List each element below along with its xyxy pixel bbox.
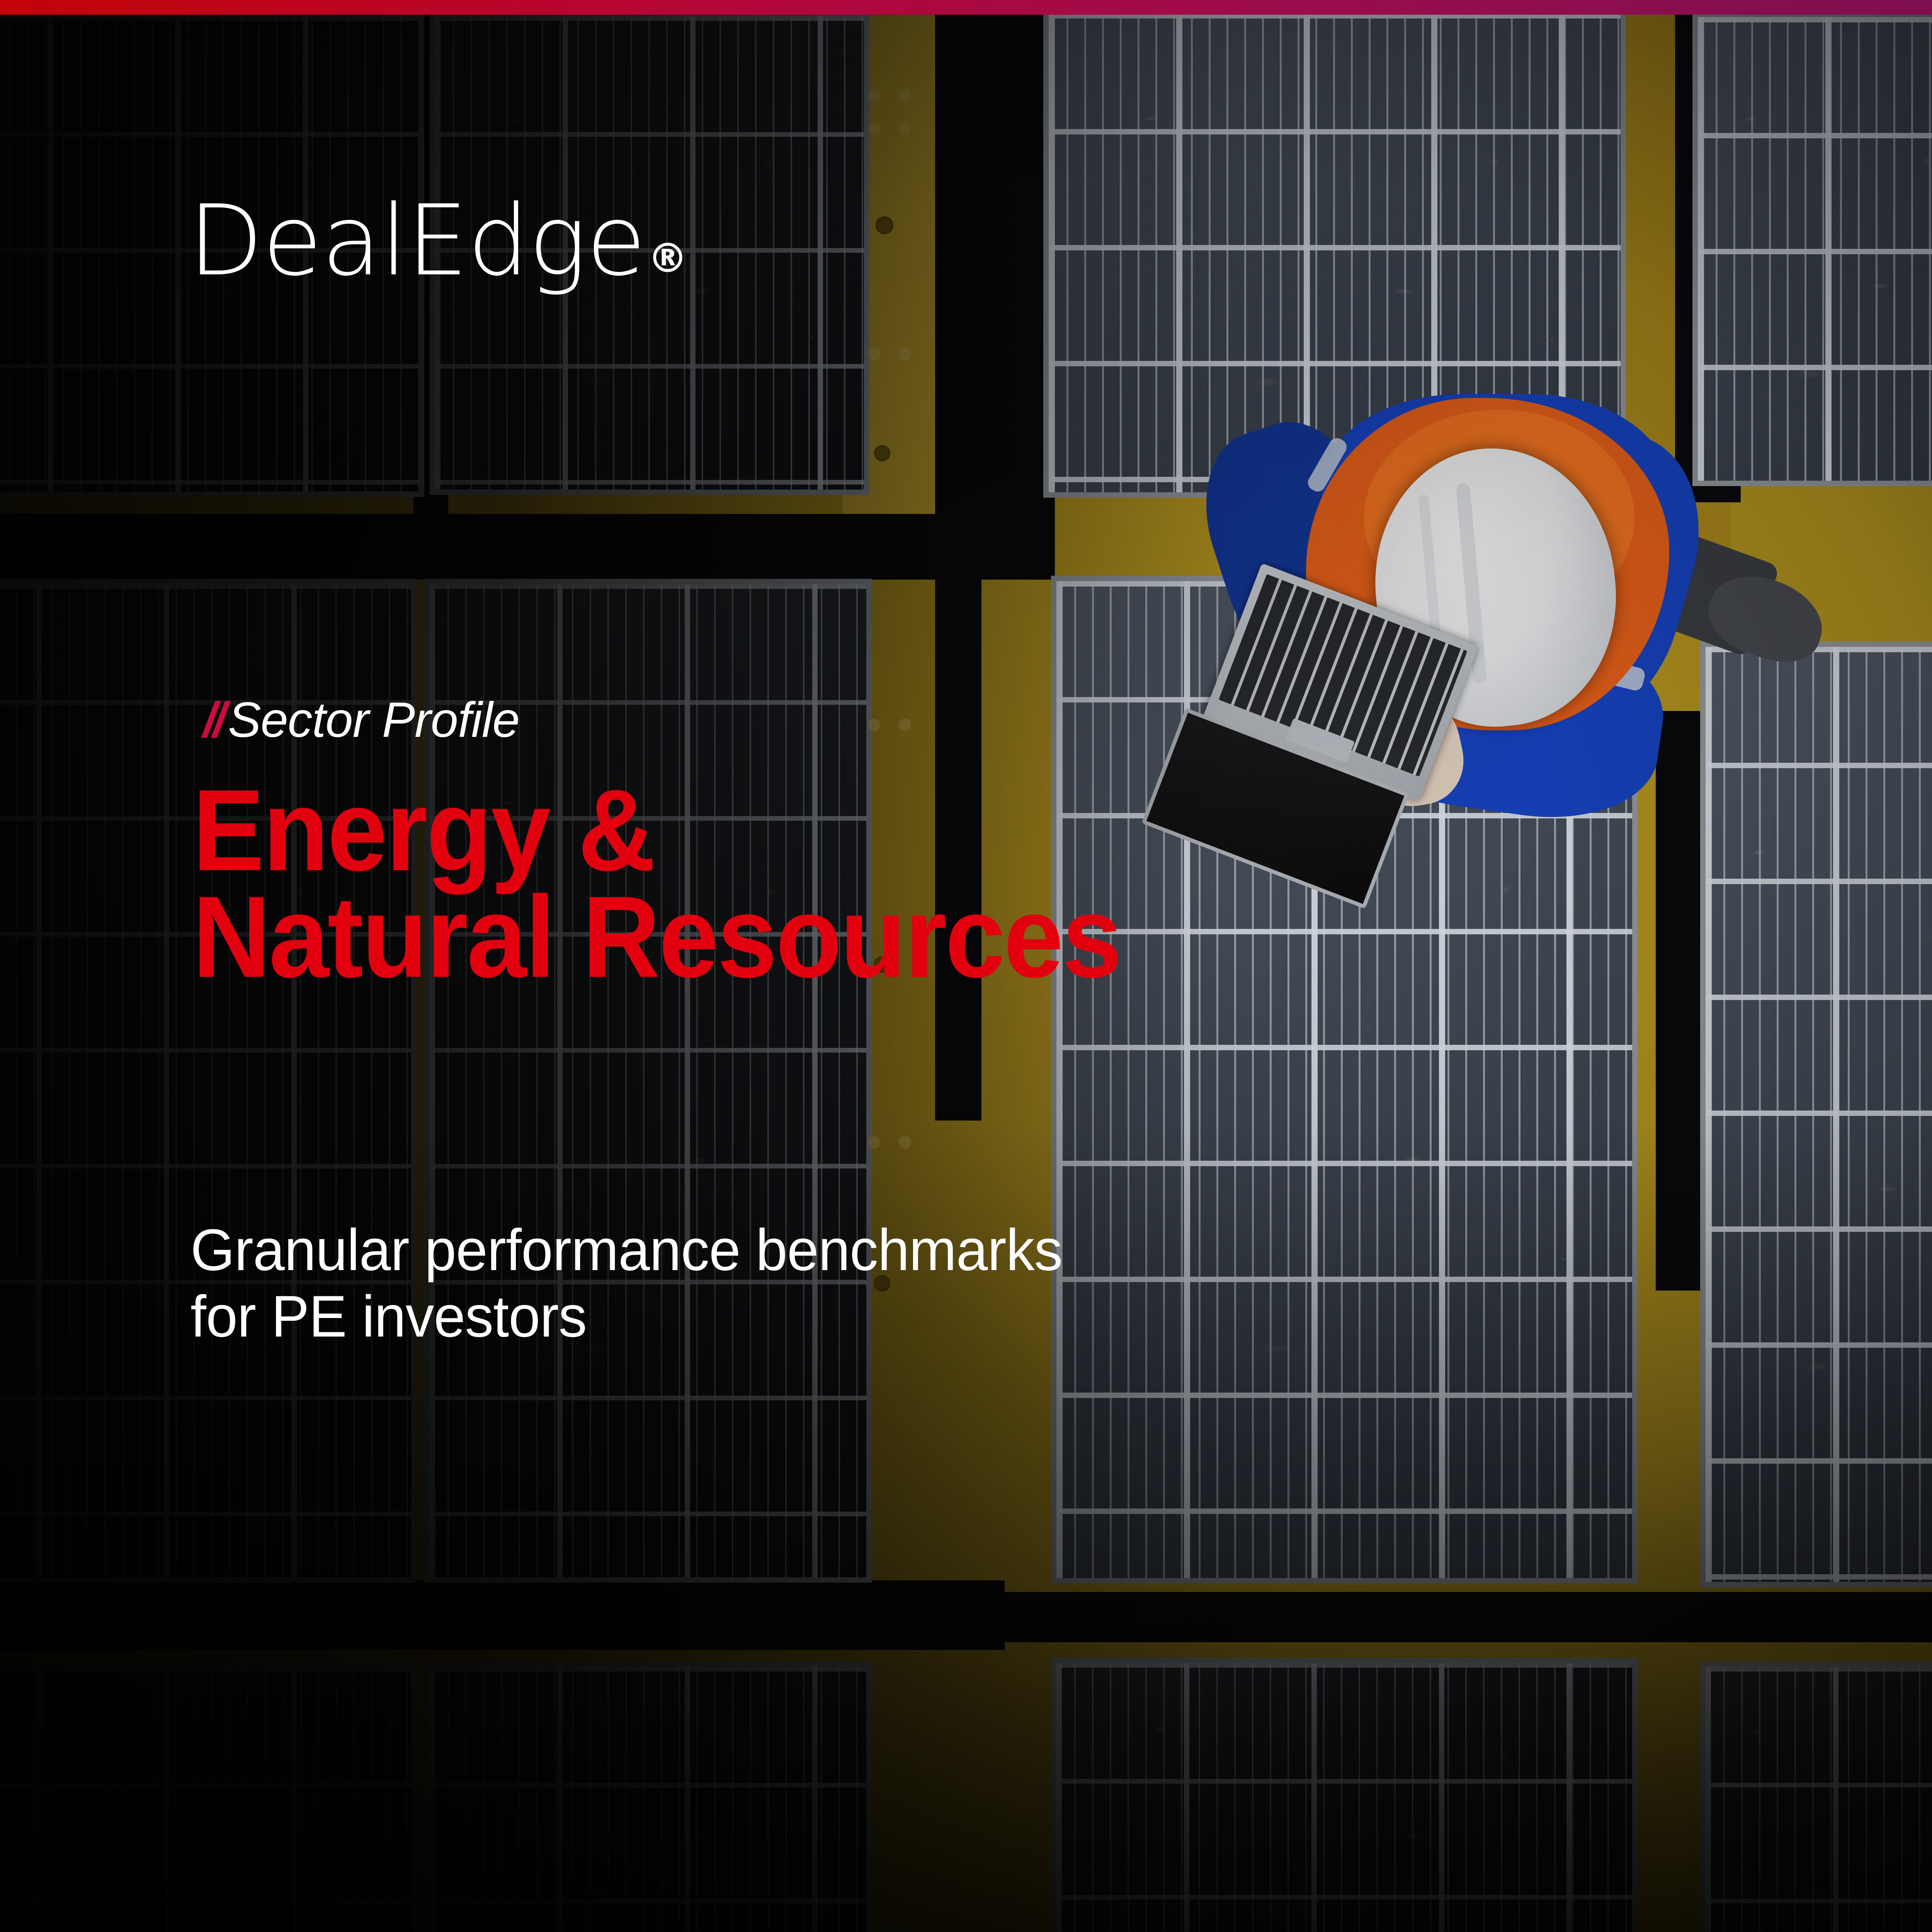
page-title: Energy & Natural Resources <box>192 777 1121 990</box>
sector-profile-poster: DealEdge® //Sector Profile Energy & Natu… <box>0 0 1932 1932</box>
brand-wordmark: DealEdge® <box>188 192 685 290</box>
eyebrow-text: Sector Profile <box>228 692 519 748</box>
page-subtitle: Granular performance benchmarks for PE i… <box>190 1217 1062 1350</box>
eyebrow-label: //Sector Profile <box>203 696 519 745</box>
double-slash-icon: // <box>203 696 223 745</box>
registered-trademark-icon: ® <box>648 235 687 282</box>
poster-content: DealEdge® //Sector Profile Energy & Natu… <box>0 0 1932 1932</box>
brand-wordmark-text: DealEdge <box>188 184 645 298</box>
